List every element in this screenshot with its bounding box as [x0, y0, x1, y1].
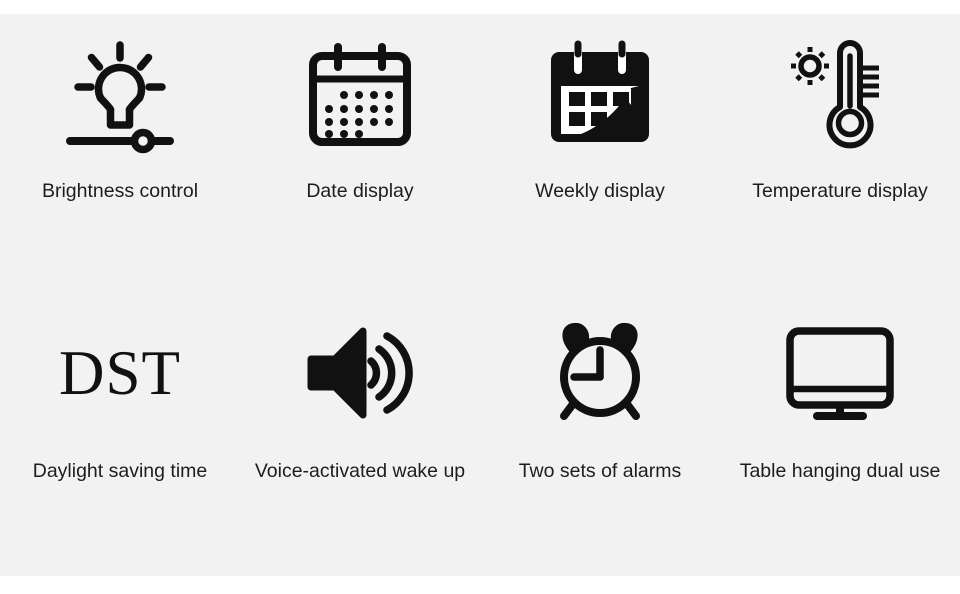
thermometer-sun-icon [780, 36, 900, 154]
feature-cell-temperature-display: Temperature display [720, 14, 960, 295]
feature-panel: Brightness control [0, 14, 960, 576]
monitor-display-icon [780, 317, 900, 429]
feature-cell-voice-activated-wake-up: Voice-activated wake up [240, 295, 480, 576]
feature-label: Weekly display [535, 180, 665, 203]
feature-cell-two-sets-of-alarms: Two sets of alarms [480, 295, 720, 576]
calendar-week-filled-icon [540, 36, 660, 154]
alarm-clock-icon [540, 317, 660, 429]
dst-text-icon: DST [60, 317, 180, 429]
calendar-dots-icon [300, 36, 420, 154]
feature-cell-table-hanging-dual-use: Table hanging dual use [720, 295, 960, 576]
feature-grid: Brightness control [0, 14, 960, 576]
brightness-bulb-slider-icon [60, 36, 180, 154]
feature-cell-weekly-display: Weekly display [480, 14, 720, 295]
feature-cell-daylight-saving-time: DST Daylight saving time [0, 295, 240, 576]
feature-cell-brightness-control: Brightness control [0, 14, 240, 295]
feature-label: Temperature display [752, 180, 928, 203]
dst-glyph-text: DST [59, 342, 181, 405]
feature-label: Table hanging dual use [740, 460, 941, 483]
feature-label: Daylight saving time [33, 460, 208, 483]
feature-cell-date-display: Date display [240, 14, 480, 295]
feature-label: Date display [306, 180, 413, 203]
speaker-sound-waves-icon [300, 317, 420, 429]
feature-label: Voice-activated wake up [255, 460, 465, 483]
feature-label: Brightness control [42, 180, 198, 203]
feature-grid-page: Brightness control [0, 0, 960, 594]
feature-label: Two sets of alarms [519, 460, 682, 483]
